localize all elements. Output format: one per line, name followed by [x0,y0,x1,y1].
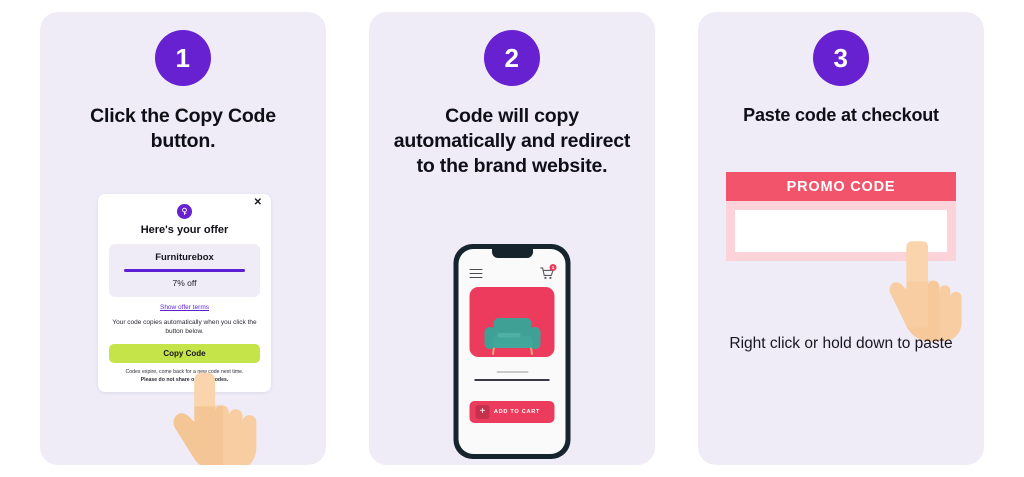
offer-discount-amount: 7% off [119,278,250,288]
product-detail-divider [475,379,550,381]
fine-print-line-2: Please do not share or store codes. [109,377,260,385]
step-number-badge-3: 3 [813,30,869,86]
hamburger-menu-icon[interactable] [470,269,483,278]
fine-print-line-1: Codes expire, come back for a new code n… [109,369,260,377]
promo-code-input[interactable] [735,210,947,252]
offer-divider-rule [124,269,246,272]
offer-box: Furniturebox 7% off [109,244,260,297]
sofa-illustration [482,311,542,357]
add-to-cart-button[interactable]: + ADD TO CART [470,401,555,423]
product-title-placeholder-line [496,371,528,373]
phone-top-bar: 1 [459,266,566,281]
instructions-stage: 1 Click the Copy Code button. ✕ Here's y… [0,0,1024,477]
offer-brand-name: Furniturebox [119,252,250,263]
popup-fine-print: Codes expire, come back for a new code n… [109,369,260,385]
plus-icon: + [476,405,490,419]
phone-notch [492,249,533,258]
paste-instruction-note: Right click or hold down to paste [698,334,984,355]
brand-logo-icon [177,204,192,219]
copy-instruction-note: Your code copies automatically when you … [109,318,260,337]
promo-code-body [726,201,956,261]
copy-code-button[interactable]: Copy Code [109,344,260,363]
phone-mockup: 1 + [454,244,571,459]
cart-badge-count: 1 [550,264,557,271]
popup-title: Here's your offer [109,224,260,236]
offer-popup-card: ✕ Here's your offer Furniturebox 7% off … [98,194,271,392]
step-heading-1: Click the Copy Code button. [63,104,303,154]
step-heading-3: Paste code at checkout [721,104,961,127]
promo-code-mockup: PROMO CODE [726,172,956,261]
step-panel-1: 1 Click the Copy Code button. ✕ Here's y… [40,12,326,465]
add-to-cart-label: ADD TO CART [490,409,555,415]
promo-code-header: PROMO CODE [726,172,956,201]
product-image-card[interactable] [470,287,555,357]
close-icon[interactable]: ✕ [254,198,262,208]
step-number-badge-2: 2 [484,30,540,86]
offer-popup-mockup: ✕ Here's your offer Furniturebox 7% off … [98,194,271,392]
step-panel-3: 3 Paste code at checkout PROMO CODE Righ… [698,12,984,465]
show-offer-terms-link[interactable]: Show offer terms [109,304,260,311]
shopping-cart-icon[interactable]: 1 [540,266,555,281]
step-heading-2: Code will copy automatically and redirec… [392,104,632,179]
step-panel-2: 2 Code will copy automatically and redir… [369,12,655,465]
step-number-badge-1: 1 [155,30,211,86]
phone-screen: 1 + [459,249,566,454]
